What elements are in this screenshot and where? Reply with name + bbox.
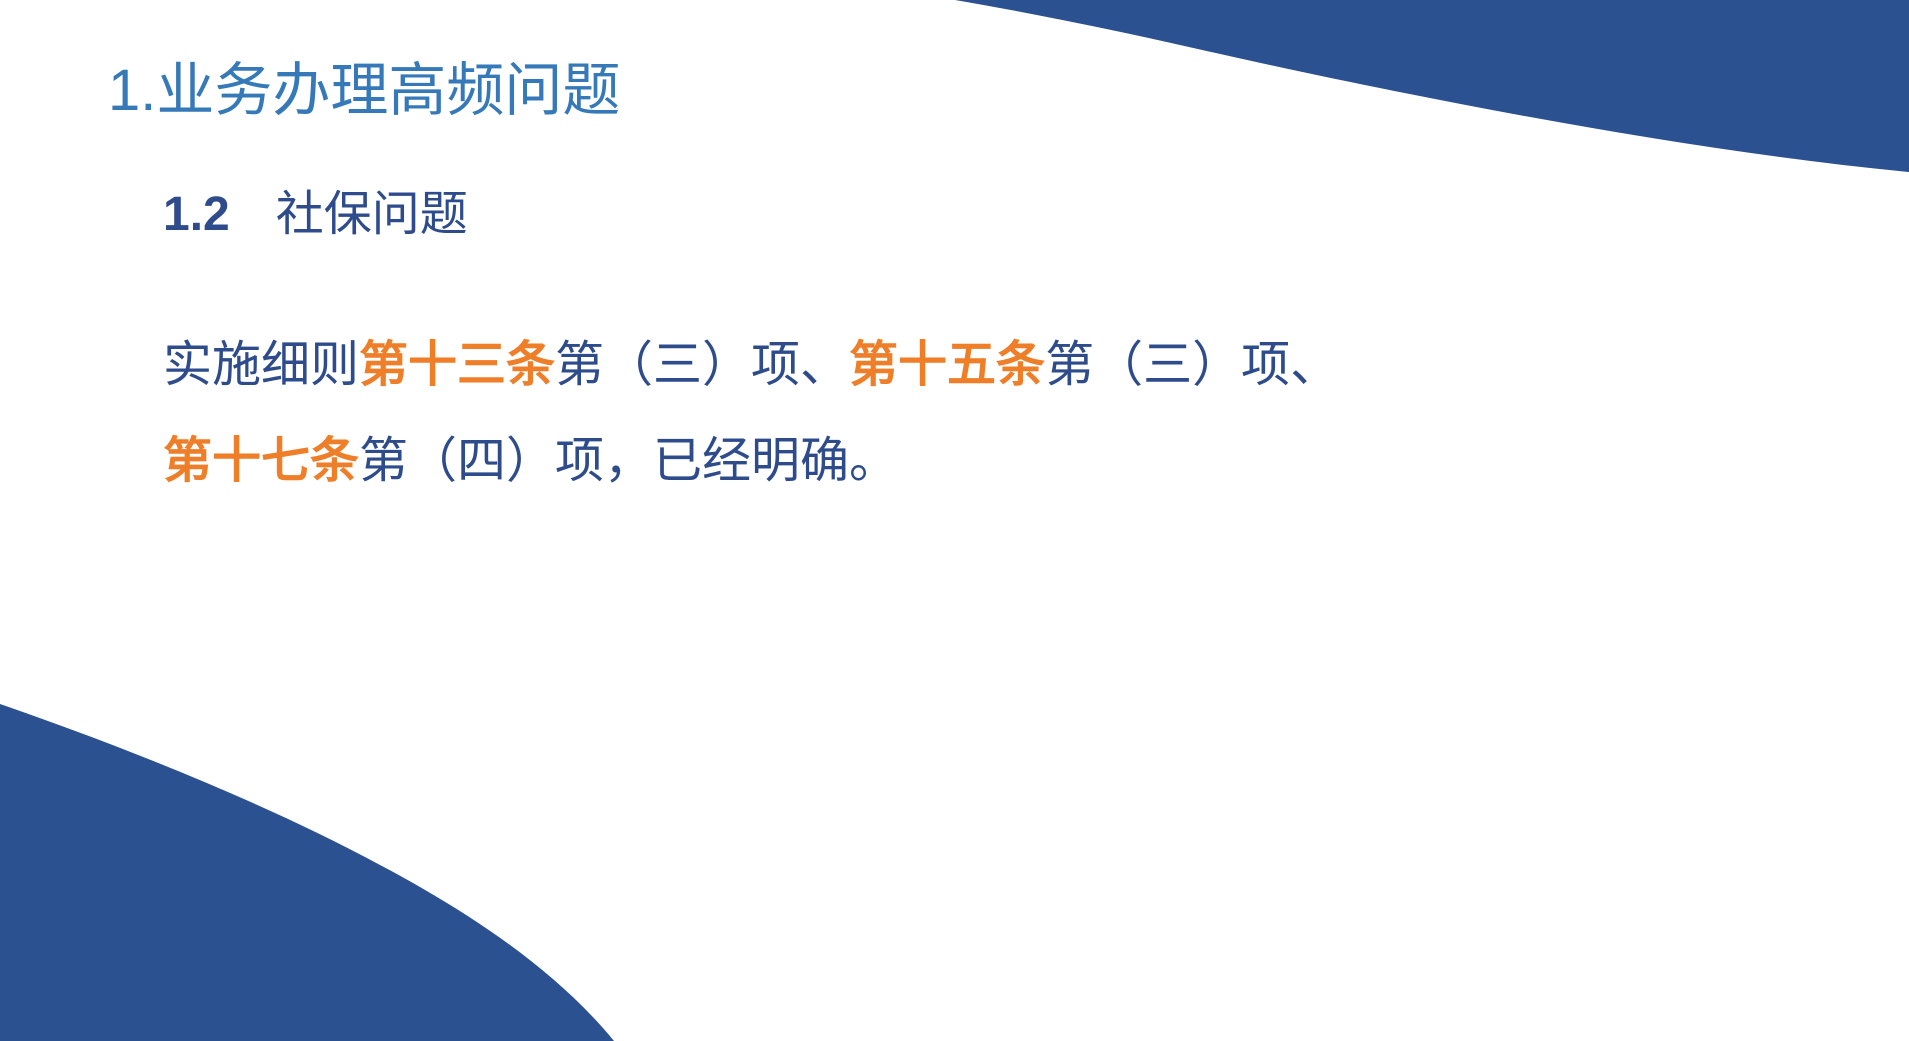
section-label: 社保问题 <box>276 188 468 241</box>
emphasized-run: 第十五条 <box>849 338 1045 392</box>
body-paragraph: 实施细则第十三条第（三）项、第十五条第（三）项、 第十七条第（四）项，已经明确。 <box>163 318 1863 509</box>
emphasized-run: 第十三条 <box>359 338 555 392</box>
top-right-curve-shape <box>955 0 1909 172</box>
body-line-2: 第十七条第（四）项，已经明确。 <box>163 414 1863 510</box>
text-run: 第（三）项、 <box>1045 338 1339 392</box>
section-number: 1.2 <box>163 188 230 241</box>
text-run: 第（四）项，已经明确。 <box>359 434 898 488</box>
page-title: 1.业务办理高频问题 <box>108 58 620 125</box>
text-run: 第（三）项、 <box>555 338 849 392</box>
emphasized-run: 第十七条 <box>163 434 359 488</box>
body-line-1: 实施细则第十三条第（三）项、第十五条第（三）项、 <box>163 318 1863 414</box>
slide-canvas: 1.业务办理高频问题 1.2社保问题 实施细则第十三条第（三）项、第十五条第（三… <box>0 0 1909 1041</box>
section-subtitle: 1.2社保问题 <box>163 186 468 244</box>
text-run: 实施细则 <box>163 338 359 392</box>
bottom-left-curve-shape <box>0 704 614 1041</box>
decorative-curves <box>0 0 1909 1041</box>
